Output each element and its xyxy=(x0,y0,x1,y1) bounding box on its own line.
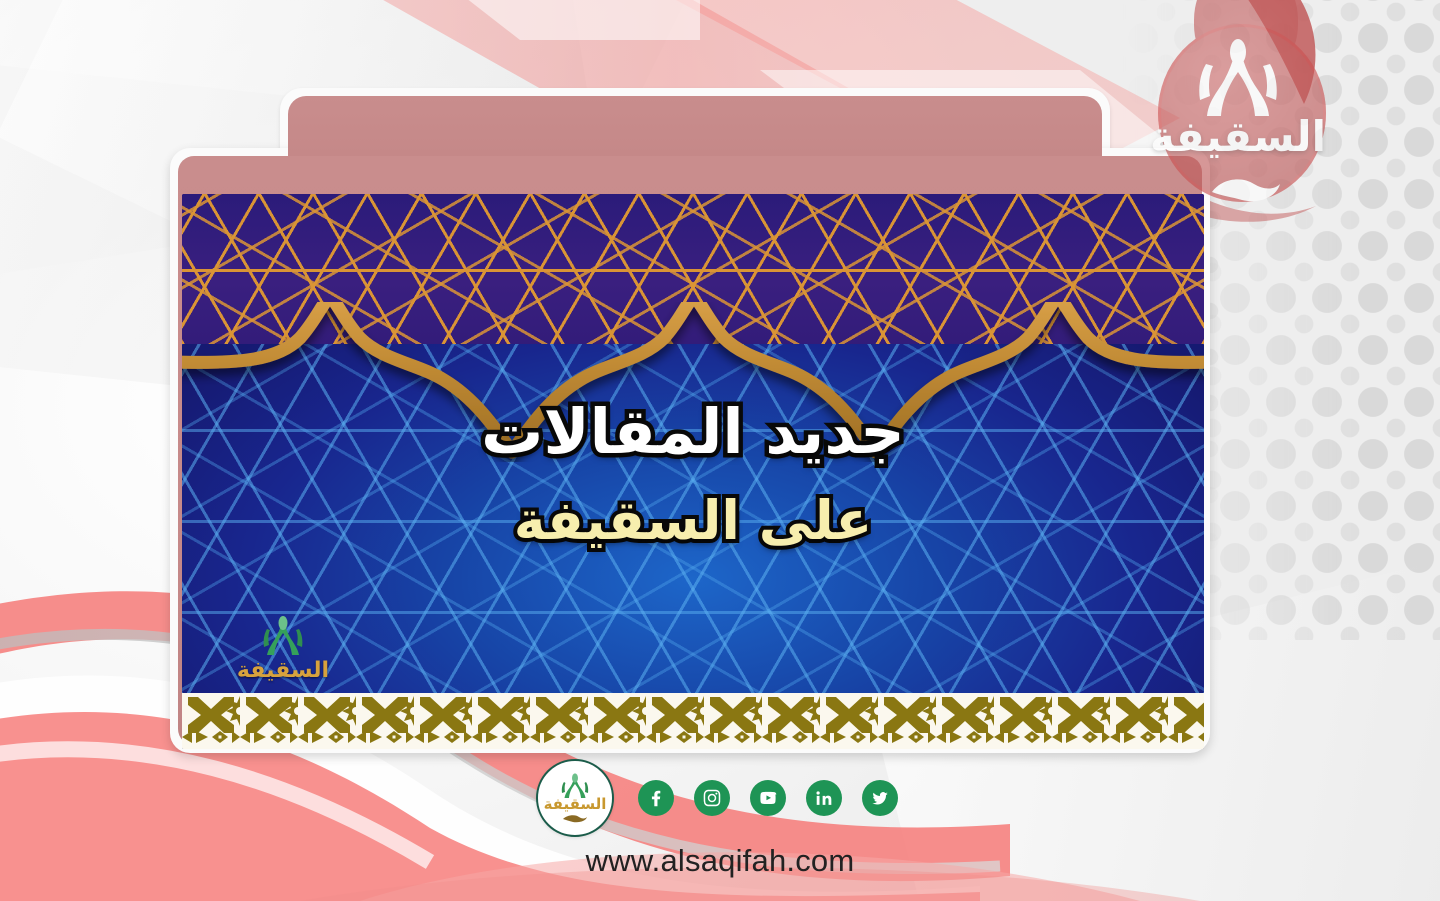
social-links xyxy=(638,780,898,816)
olive-pattern xyxy=(182,693,1204,749)
brand-swoosh-icon xyxy=(562,814,588,823)
brand-badge[interactable]: السقيفة xyxy=(536,759,614,837)
youtube-icon[interactable] xyxy=(750,780,786,816)
brand-badge-word: السقيفة xyxy=(544,797,607,812)
headline-line-2: على السقيفة xyxy=(182,488,1204,554)
headline-line-1: جديد المقالات xyxy=(182,394,1204,470)
footer: السقيفة xyxy=(0,759,1440,879)
saqifah-leaf-emblem-icon xyxy=(261,616,305,656)
panel-logo-word: السقيفة xyxy=(237,658,329,683)
headline-block: جديد المقالات على السقيفة xyxy=(182,394,1204,554)
article-card: جديد المقالات على السقيفة السقيفة xyxy=(170,88,1210,753)
facebook-icon[interactable] xyxy=(638,780,674,816)
panel-corner-logo: السقيفة xyxy=(228,601,338,683)
instagram-icon[interactable] xyxy=(694,780,730,816)
linkedin-icon[interactable] xyxy=(806,780,842,816)
twitter-icon[interactable] xyxy=(862,780,898,816)
footer-row: السقيفة xyxy=(536,759,898,837)
poster-canvas: السقيفة xyxy=(0,0,1440,901)
olive-border-strip xyxy=(182,693,1204,749)
ornamental-panel: جديد المقالات على السقيفة السقيفة xyxy=(182,194,1204,749)
site-url[interactable]: www.alsaqifah.com xyxy=(586,843,855,879)
